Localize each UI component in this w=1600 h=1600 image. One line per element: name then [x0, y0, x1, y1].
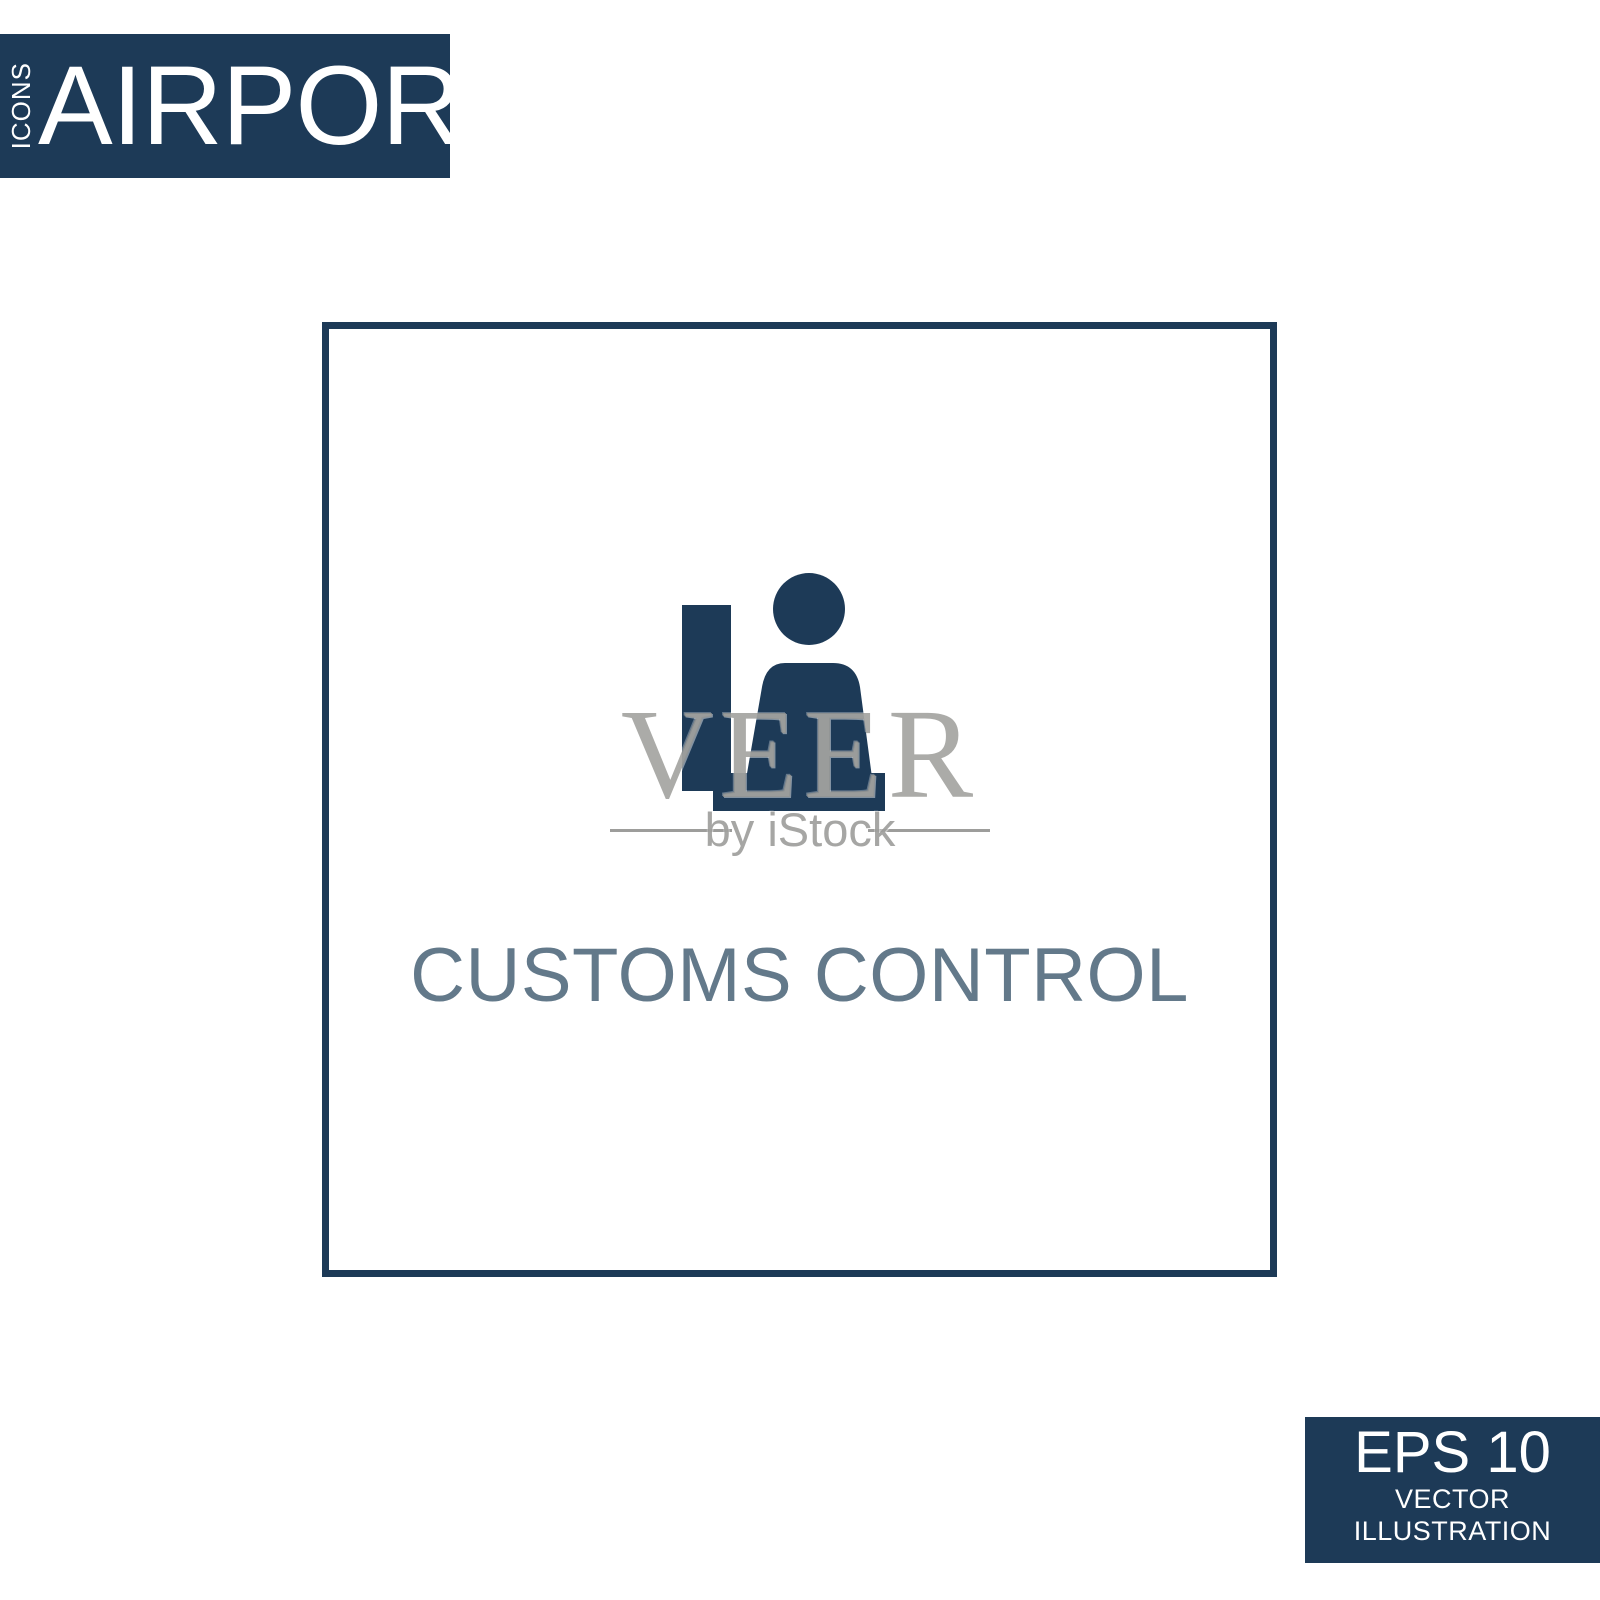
- header-banner: ICONS AIRPORT: [0, 34, 450, 178]
- header-title: AIRPORT: [38, 53, 527, 159]
- icon-card-frame: [322, 322, 1277, 1277]
- eps-badge-line2: ILLUSTRATION: [1305, 1516, 1600, 1548]
- header-kicker-label: ICONS: [8, 62, 34, 149]
- eps-badge-line1: VECTOR: [1305, 1484, 1600, 1516]
- eps-badge-title: EPS 10: [1305, 1423, 1600, 1484]
- eps-badge: EPS 10 VECTOR ILLUSTRATION: [1305, 1417, 1600, 1563]
- icon-caption: CUSTOMS CONTROL: [322, 938, 1277, 1014]
